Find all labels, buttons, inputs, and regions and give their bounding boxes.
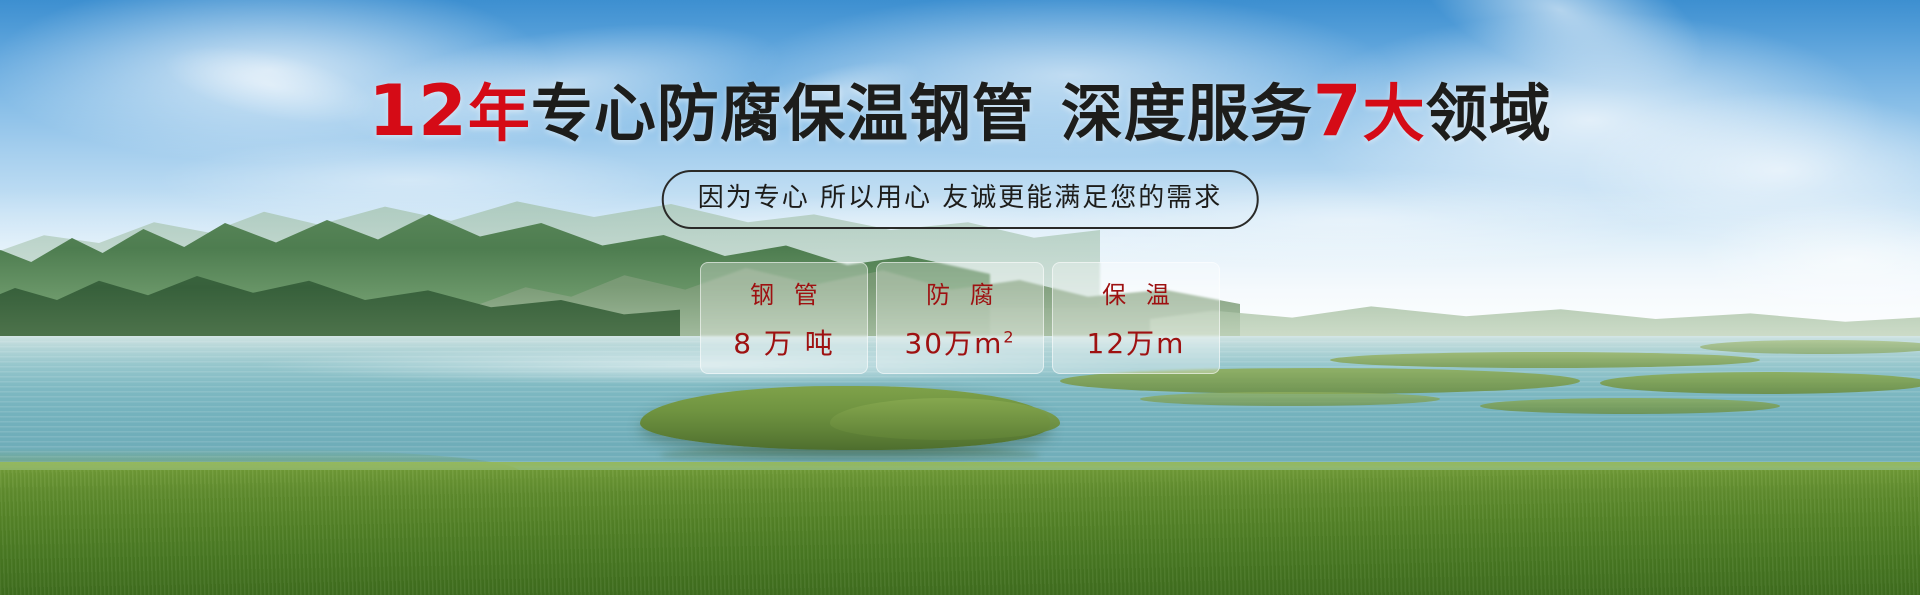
slogan-pill: 因为专心 所以用心 友诚更能满足您的需求	[662, 170, 1259, 229]
stat-card-anticorrosion[interactable]: 防 腐 30万m2	[876, 262, 1044, 374]
headline-fields-text: 领域	[1426, 77, 1552, 150]
stat-card-value: 30万m2	[904, 322, 1015, 362]
grass-island-secondary	[830, 398, 1060, 440]
headline-main-text: 专心防腐保温钢管	[531, 77, 1035, 150]
marsh-grass-strip	[1140, 392, 1440, 406]
stats-card-group: 钢 管 8 万 吨 防 腐 30万m2 保 温 12万m	[700, 262, 1220, 374]
marsh-grass-strip	[1480, 398, 1780, 414]
stat-card-value: 8 万 吨	[733, 322, 835, 362]
stat-card-title: 钢 管	[744, 275, 824, 310]
stat-card-insulation[interactable]: 保 温 12万m	[1052, 262, 1220, 374]
stat-card-value-text: 8 万 吨	[733, 327, 835, 360]
stat-card-title: 防 腐	[920, 275, 1000, 310]
headline-fields-number: 7	[1313, 70, 1363, 152]
stat-card-steel-pipe[interactable]: 钢 管 8 万 吨	[700, 262, 868, 374]
page-title: 12年专心防腐保温钢管深度服务7大领域	[0, 78, 1920, 147]
headline-fields-unit: 大	[1363, 77, 1426, 150]
grass-texture	[0, 470, 1920, 595]
stat-card-title: 保 温	[1096, 275, 1176, 310]
stat-card-value: 12万m	[1087, 322, 1186, 362]
marsh-grass-strip	[1600, 372, 1920, 394]
stat-card-value-text: 12万m	[1087, 327, 1186, 360]
stat-card-value-text: 30万m	[904, 327, 1003, 360]
hero-banner: 12年专心防腐保温钢管深度服务7大领域 因为专心 所以用心 友诚更能满足您的需求…	[0, 0, 1920, 595]
marsh-grass-strip	[1330, 352, 1760, 368]
headline-years-number: 12	[368, 70, 467, 152]
headline-years-unit: 年	[468, 77, 531, 150]
stat-card-value-superscript: 2	[1003, 327, 1015, 346]
headline-service-text: 深度服务	[1061, 77, 1313, 150]
